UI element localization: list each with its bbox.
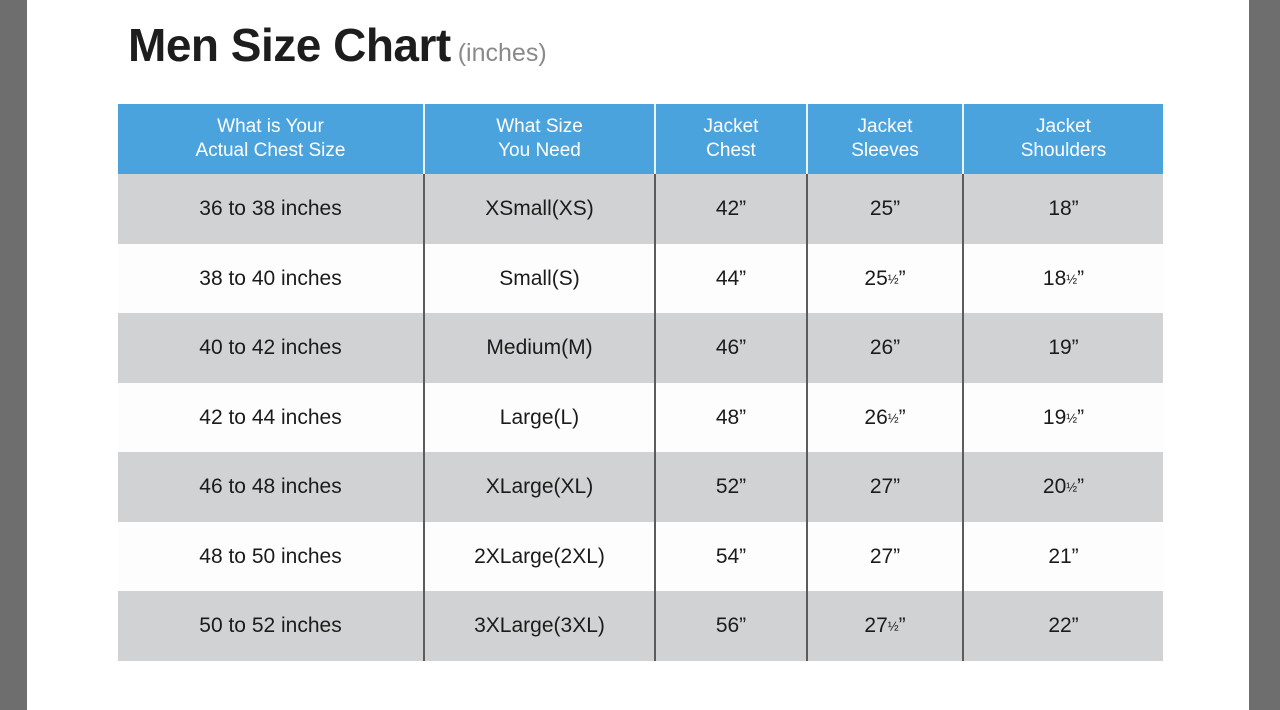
table-row: 36 to 38 inchesXSmall(XS)42”25”18” [118,174,1163,244]
cell-jacket-shoulders: 22” [963,591,1163,661]
column-header-line-1: Jacket [808,115,962,139]
cell-size-you-need: XLarge(XL) [424,452,655,522]
cell-jacket-chest: 54” [655,522,807,592]
letterbox-bar-left [0,0,27,710]
cell-actual-chest-size: 42 to 44 inches [118,383,424,453]
column-header-line-2: Actual Chest Size [118,139,423,163]
table-row: 46 to 48 inchesXLarge(XL)52”27”20½” [118,452,1163,522]
cell-jacket-shoulders: 19” [963,313,1163,383]
table-header-row: What is Your Actual Chest Size What Size… [118,104,1163,174]
table-body: 36 to 38 inchesXSmall(XS)42”25”18”38 to … [118,174,1163,661]
table-row: 38 to 40 inchesSmall(S)44”25½”18½” [118,244,1163,314]
cell-jacket-shoulders: 20½” [963,452,1163,522]
cell-jacket-sleeves: 27” [807,452,963,522]
cell-jacket-sleeves: 25½” [807,244,963,314]
column-header-line-1: What is Your [118,115,423,139]
cell-actual-chest-size: 36 to 38 inches [118,174,424,244]
cell-jacket-shoulders: 18” [963,174,1163,244]
column-header-line-2: Chest [656,139,806,163]
half-fraction: ½ [1066,410,1077,425]
cell-size-you-need: Large(L) [424,383,655,453]
table-row: 50 to 52 inches3XLarge(3XL)56”27½”22” [118,591,1163,661]
half-fraction: ½ [1066,271,1077,286]
cell-jacket-chest: 42” [655,174,807,244]
cell-jacket-sleeves: 25” [807,174,963,244]
cell-actual-chest-size: 48 to 50 inches [118,522,424,592]
table-row: 40 to 42 inchesMedium(M)46”26”19” [118,313,1163,383]
page-title-unit: (inches) [458,39,547,67]
size-chart-table: What is Your Actual Chest Size What Size… [118,104,1163,661]
half-fraction: ½ [888,271,899,286]
cell-jacket-chest: 46” [655,313,807,383]
cell-size-you-need: XSmall(XS) [424,174,655,244]
cell-size-you-need: 2XLarge(2XL) [424,522,655,592]
cell-jacket-shoulders: 19½” [963,383,1163,453]
cell-actual-chest-size: 50 to 52 inches [118,591,424,661]
cell-jacket-chest: 48” [655,383,807,453]
cell-jacket-shoulders: 21” [963,522,1163,592]
column-header-line-1: Jacket [656,115,806,139]
column-header-jacket-sleeves: Jacket Sleeves [807,104,963,174]
cell-actual-chest-size: 38 to 40 inches [118,244,424,314]
half-fraction: ½ [888,410,899,425]
table-header: What is Your Actual Chest Size What Size… [118,104,1163,174]
cell-size-you-need: Medium(M) [424,313,655,383]
column-header-size-you-need: What Size You Need [424,104,655,174]
table-row: 42 to 44 inchesLarge(L)48”26½”19½” [118,383,1163,453]
cell-size-you-need: 3XLarge(3XL) [424,591,655,661]
cell-jacket-chest: 44” [655,244,807,314]
column-header-jacket-chest: Jacket Chest [655,104,807,174]
cell-jacket-sleeves: 27” [807,522,963,592]
column-header-line-2: Shoulders [964,139,1163,163]
page-title-main: Men Size Chart [128,19,451,71]
column-header-jacket-shoulders: Jacket Shoulders [963,104,1163,174]
cell-jacket-sleeves: 27½” [807,591,963,661]
cell-jacket-chest: 52” [655,452,807,522]
cell-jacket-shoulders: 18½” [963,244,1163,314]
column-header-line-2: Sleeves [808,139,962,163]
column-header-line-1: What Size [425,115,654,139]
cell-size-you-need: Small(S) [424,244,655,314]
cell-jacket-sleeves: 26” [807,313,963,383]
column-header-line-1: Jacket [964,115,1163,139]
cell-jacket-chest: 56” [655,591,807,661]
column-header-line-2: You Need [425,139,654,163]
cell-actual-chest-size: 46 to 48 inches [118,452,424,522]
page-title: Men Size Chart(inches) [128,18,547,72]
size-chart-page: Men Size Chart(inches) What is Your Actu… [27,0,1249,710]
column-header-actual-chest-size: What is Your Actual Chest Size [118,104,424,174]
cell-jacket-sleeves: 26½” [807,383,963,453]
cell-actual-chest-size: 40 to 42 inches [118,313,424,383]
half-fraction: ½ [1066,480,1077,495]
half-fraction: ½ [888,619,899,634]
table-row: 48 to 50 inches2XLarge(2XL)54”27”21” [118,522,1163,592]
letterbox-bar-right [1249,0,1280,710]
